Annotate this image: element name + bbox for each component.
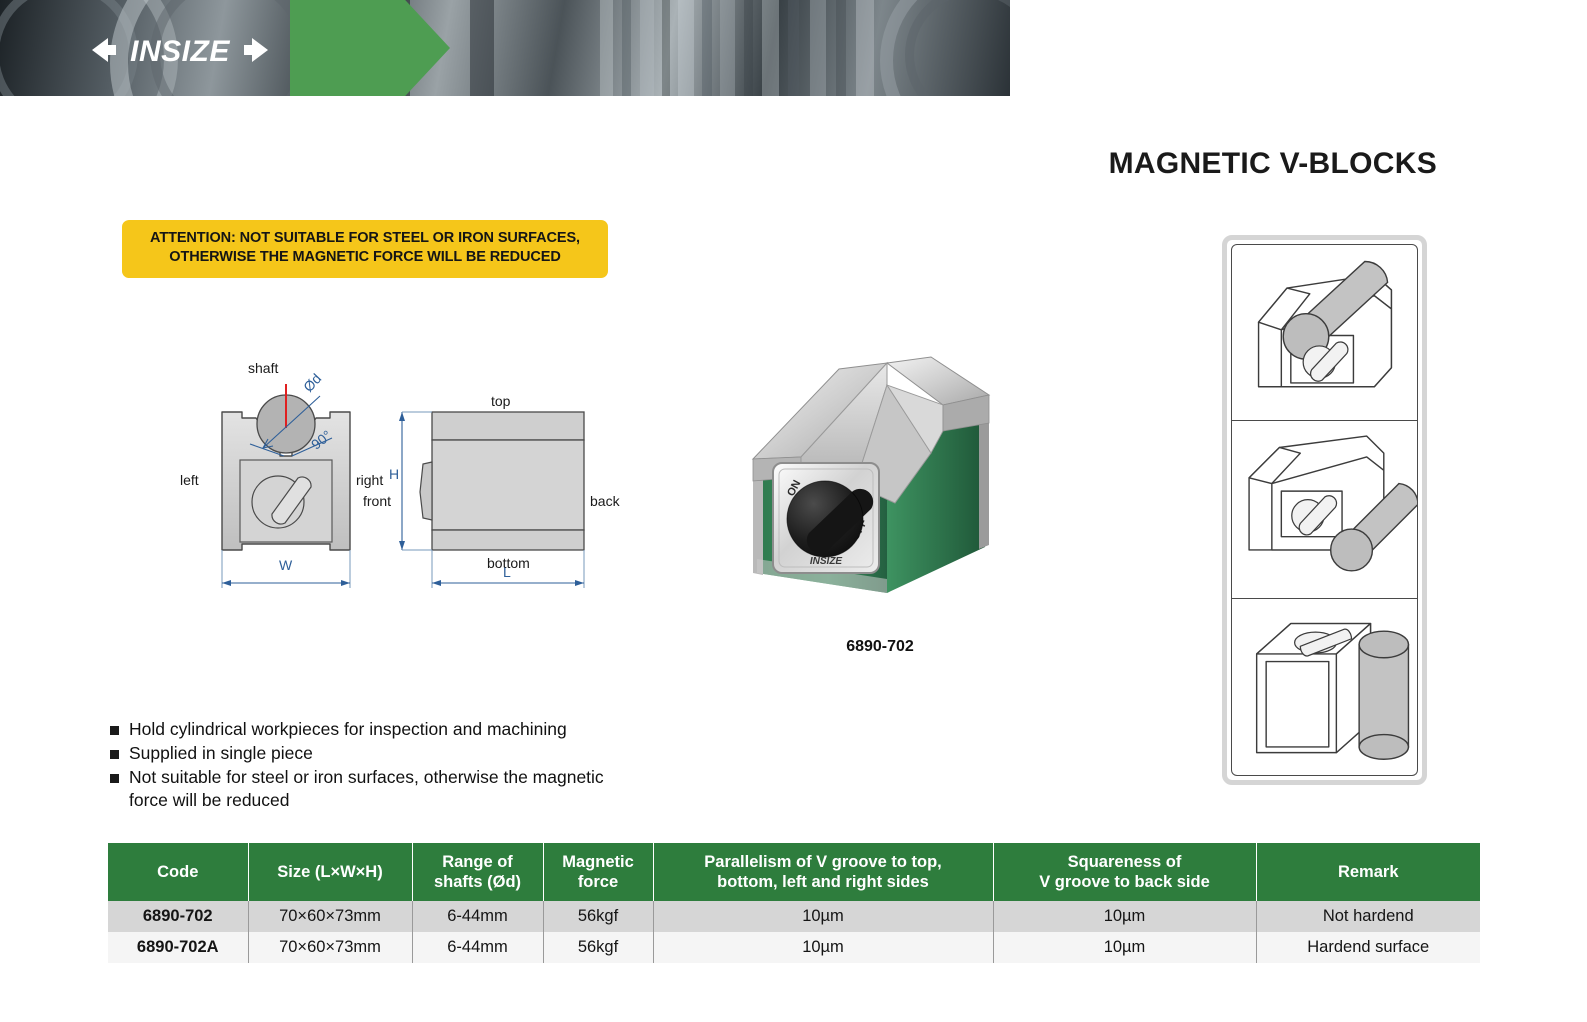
label-top: top — [491, 393, 510, 409]
page-header: INSIZE — [0, 0, 1587, 96]
feature-text: Not suitable for steel or iron surfaces,… — [129, 766, 609, 812]
table-header-row: Code Size (L×W×H) Range of shafts (Ød) M… — [108, 843, 1480, 901]
label-front: front — [363, 493, 391, 509]
cell-code: 6890-702 — [108, 901, 248, 932]
label-right: right — [356, 472, 383, 488]
label-left: left — [180, 472, 199, 488]
column-header-magnetic-force: Magnetic force — [543, 843, 653, 901]
column-header-parallelism: Parallelism of V groove to top, bottom, … — [653, 843, 993, 901]
label-height: H — [389, 466, 399, 482]
cell-force: 56kgf — [543, 932, 653, 963]
bullet-square-icon — [110, 750, 119, 759]
attention-line-2: OTHERWISE THE MAGNETIC FORCE WILL BE RED… — [132, 248, 598, 267]
label-back: back — [590, 493, 620, 509]
table-row: 6890-702 70×60×73mm 6-44mm 56kgf 10µm 10… — [108, 901, 1480, 932]
attention-banner: ATTENTION: NOT SUITABLE FOR STEEL OR IRO… — [122, 220, 608, 278]
feature-item: Supplied in single piece — [110, 742, 730, 765]
column-header-size: Size (L×W×H) — [248, 843, 412, 901]
app-1-svg — [1232, 245, 1417, 420]
cell-size: 70×60×73mm — [248, 901, 412, 932]
application-illustration-3 — [1231, 599, 1418, 776]
svg-text:INSIZE: INSIZE — [810, 556, 843, 567]
product-caption: 6890-702 — [735, 638, 1025, 656]
column-header-code: Code — [108, 843, 248, 901]
application-illustrations-panel — [1222, 235, 1427, 785]
attention-line-1: ATTENTION: NOT SUITABLE FOR STEEL OR IRO… — [132, 229, 598, 248]
app-3-svg — [1232, 599, 1417, 775]
table-row: 6890-702A 70×60×73mm 6-44mm 56kgf 10µm 1… — [108, 932, 1480, 963]
label-length: L — [503, 564, 511, 580]
column-header-range-of-shafts: Range of shafts (Ød) — [412, 843, 543, 901]
drawing-svg — [180, 352, 640, 602]
feature-item: Hold cylindrical workpieces for inspecti… — [110, 718, 730, 741]
cell-force: 56kgf — [543, 901, 653, 932]
cell-remark: Hardend surface — [1256, 932, 1480, 963]
svg-text:INSIZE: INSIZE — [130, 35, 230, 68]
cell-squareness: 10µm — [993, 932, 1256, 963]
application-illustration-1 — [1231, 244, 1418, 421]
cell-parallelism: 10µm — [653, 901, 993, 932]
product-photo-svg: ON OFF INSIZE — [735, 335, 1025, 615]
cell-range: 6-44mm — [412, 901, 543, 932]
column-header-squareness: Squareness of V groove to back side — [993, 843, 1256, 901]
feature-text: Supplied in single piece — [129, 742, 313, 765]
cell-range: 6-44mm — [412, 932, 543, 963]
cell-squareness: 10µm — [993, 901, 1256, 932]
cell-parallelism: 10µm — [653, 932, 993, 963]
feature-text: Hold cylindrical workpieces for inspecti… — [129, 718, 567, 741]
app-2-svg — [1232, 421, 1417, 597]
label-shaft: shaft — [248, 360, 278, 376]
technical-drawings: shaft Ød 90° left right W top bottom fro… — [180, 352, 640, 602]
cell-size: 70×60×73mm — [248, 932, 412, 963]
product-photo: ON OFF INSIZE — [735, 335, 1025, 615]
bullet-square-icon — [110, 774, 119, 783]
specification-table: Code Size (L×W×H) Range of shafts (Ød) M… — [108, 843, 1480, 963]
features-list: Hold cylindrical workpieces for inspecti… — [110, 718, 730, 813]
insize-logo: INSIZE — [92, 30, 268, 70]
label-width: W — [279, 557, 292, 573]
feature-item: Not suitable for steel or iron surfaces,… — [110, 766, 730, 812]
bullet-square-icon — [110, 726, 119, 735]
application-illustration-2 — [1231, 421, 1418, 598]
cell-code: 6890-702A — [108, 932, 248, 963]
column-header-remark: Remark — [1256, 843, 1480, 901]
cell-remark: Not hardend — [1256, 901, 1480, 932]
page-title: MAGNETIC V-BLOCKS — [1109, 147, 1437, 181]
